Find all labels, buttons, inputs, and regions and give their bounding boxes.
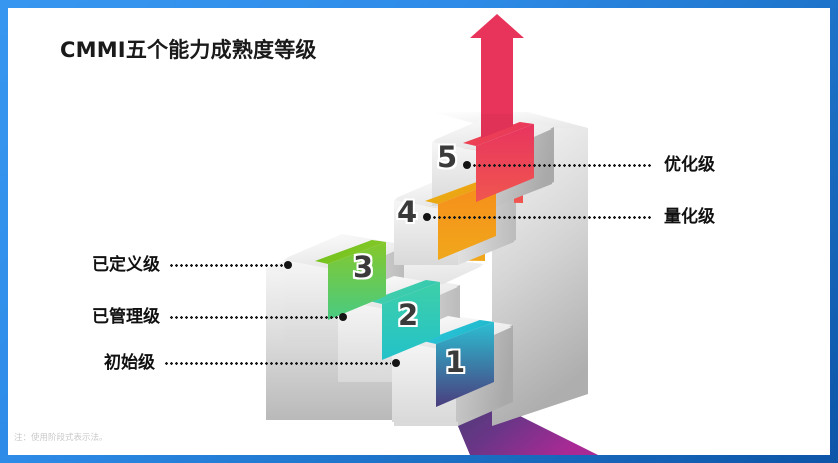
level-1-label: 初始级 bbox=[104, 355, 155, 372]
level-3-label: 已定义级 bbox=[92, 257, 160, 274]
level-2-label: 已管理级 bbox=[92, 309, 160, 326]
connector-row-level-5: 优化级 bbox=[463, 158, 715, 172]
slide-canvas: CMMI五个能力成熟度等级 注：使用阶段式表示法。 bbox=[8, 8, 830, 455]
level-number-1: 1 bbox=[445, 348, 465, 377]
leader-dots bbox=[164, 362, 391, 365]
leader-endpoint-dot bbox=[392, 359, 400, 367]
level-4-label: 量化级 bbox=[664, 209, 715, 226]
level-number-5: 5 bbox=[437, 143, 457, 172]
staircase-diagram bbox=[8, 8, 830, 455]
leader-dots bbox=[169, 316, 338, 319]
level-5-label: 优化级 bbox=[664, 157, 715, 174]
leader-endpoint-dot bbox=[423, 213, 431, 221]
connector-row-level-4: 量化级 bbox=[423, 210, 715, 224]
level-number-4: 4 bbox=[397, 198, 417, 227]
leader-dots bbox=[472, 164, 652, 167]
leader-endpoint-dot bbox=[284, 261, 292, 269]
connector-row-level-1: 初始级 bbox=[104, 356, 400, 370]
level-number-3: 3 bbox=[353, 253, 373, 282]
slide-frame: CMMI五个能力成熟度等级 注：使用阶段式表示法。 bbox=[0, 0, 838, 463]
leader-endpoint-dot bbox=[339, 313, 347, 321]
connector-row-level-3: 已定义级 bbox=[92, 258, 292, 272]
level-number-2: 2 bbox=[398, 301, 418, 330]
leader-dots bbox=[169, 264, 283, 267]
connector-row-level-2: 已管理级 bbox=[92, 310, 347, 324]
leader-endpoint-dot bbox=[463, 161, 471, 169]
leader-dots bbox=[432, 216, 652, 219]
